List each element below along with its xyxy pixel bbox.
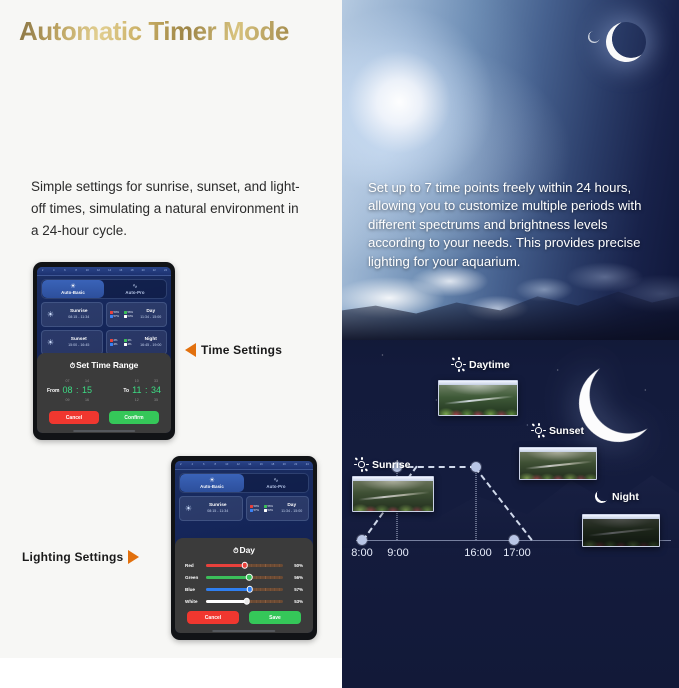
day-lighting-dialog: ⏱Day Red 50% Green	[175, 538, 313, 633]
mode-tab-group: ☀ Auto-Basic ∿ Auto-Pro	[41, 279, 167, 299]
channel-chip: 2%	[110, 339, 122, 342]
slider-label: Blue	[185, 587, 202, 592]
period-range: 15:00 - 16:45	[59, 343, 99, 347]
tab-auto-basic[interactable]: ☀ Auto-Basic	[42, 280, 104, 298]
channel-chip: 3%	[124, 339, 136, 342]
channel-chip: 4%	[124, 343, 136, 346]
dialog-button-row: Cancel Confirm	[45, 411, 163, 424]
aquarium-thumb-night	[582, 514, 660, 547]
ruler-tick: 8	[71, 270, 82, 273]
period-range: 16:45 - 19:00	[139, 343, 164, 347]
sunrise-icon: ☀	[45, 310, 56, 319]
from-picker[interactable]: From 07 08 09 : 14 15	[47, 377, 92, 404]
ruler-tick: 10	[221, 464, 233, 467]
annotation-label: Sunset	[549, 425, 584, 437]
sun-icon	[452, 358, 465, 371]
from-hour-value: 08	[63, 385, 73, 396]
ruler-tick: 22	[290, 464, 302, 467]
slider-track[interactable]	[206, 576, 283, 578]
channel-chip: 57%	[110, 315, 122, 318]
dialog-button-row: Cancel Save	[183, 611, 305, 624]
tab-auto-pro-label: Auto-Pro	[125, 290, 144, 295]
slider-knob[interactable]	[247, 586, 254, 593]
from-minute-wheel[interactable]: 14 15 16	[82, 377, 92, 404]
channel-chip-group: 50% 56% 57% 53%	[250, 505, 276, 512]
from-hour-wheel[interactable]: 07 08 09	[63, 377, 73, 404]
channel-chip-group: 2% 3% 4% 4%	[110, 339, 136, 346]
slider-fill	[206, 600, 247, 602]
home-indicator	[73, 430, 135, 432]
channel-chip: 56%	[124, 311, 136, 314]
cancel-button[interactable]: Cancel	[49, 411, 99, 424]
chart-node-16[interactable]	[471, 462, 481, 472]
confirm-button[interactable]: Confirm	[109, 411, 159, 424]
from-label: From	[47, 388, 60, 394]
home-indicator	[212, 630, 275, 632]
page-root: Automatic Timer Mode Simple settings for…	[0, 0, 679, 688]
chart-xtick-label: 17:00	[503, 547, 531, 559]
channel-chip: 56%	[264, 505, 276, 508]
dialog-title: ⏱Day	[183, 545, 305, 556]
arrow-left-icon	[185, 343, 196, 357]
ruler-tick: 14	[104, 270, 115, 273]
tank-glass	[353, 481, 433, 512]
period-card-day[interactable]: 50% 56% 57% 53% Day 11:34 - 15:00	[106, 302, 168, 327]
ruler-tick: 10	[82, 270, 93, 273]
ruler-tick: 6	[198, 464, 210, 467]
ruler-tick: 20	[279, 464, 291, 467]
channel-chip-group: 50% 56% 57% 53%	[110, 311, 136, 318]
sun-icon	[355, 458, 368, 471]
channel-chip: 53%	[124, 315, 136, 318]
slider-fill	[206, 576, 249, 578]
tab-auto-basic[interactable]: ☀ Auto-Basic	[180, 474, 244, 492]
slider-track[interactable]	[206, 588, 283, 590]
slider-track[interactable]	[206, 564, 283, 566]
ruler-tick: 4	[187, 464, 199, 467]
clock-icon: ⏱	[70, 363, 75, 370]
chart-dropline-sunset	[476, 468, 477, 540]
page-title: Automatic Timer Mode	[19, 16, 289, 47]
ruler-tick: 18	[126, 270, 137, 273]
ruler-tick: 24	[160, 270, 171, 273]
sunset-icon: ☀	[45, 338, 56, 347]
clock-icon: ⏱	[233, 548, 238, 555]
to-hour-value: 11	[132, 385, 141, 396]
time-picker-row: From 07 08 09 : 14 15	[45, 377, 163, 404]
to-label: To	[123, 388, 129, 394]
callout-lighting-settings-label: Lighting Settings	[22, 550, 123, 564]
period-card-night[interactable]: 2% 3% 4% 4% Night 16:45 - 19:00	[106, 330, 168, 355]
cancel-button[interactable]: Cancel	[187, 611, 239, 624]
slider-value: 57%	[287, 587, 303, 592]
ruler-tick: 12	[93, 270, 104, 273]
chart-node-17[interactable]	[509, 535, 519, 545]
slider-fill	[206, 564, 245, 566]
period-card-day[interactable]: 50% 56% 57% 53% Day 11:34 - 15:00	[246, 496, 310, 521]
tablet-time-screen: 2 4 6 8 10 12 14 16 18 20 22 24 ☀ Au	[37, 267, 171, 433]
sun-icon	[532, 424, 545, 437]
lighting-schedule-chart: 8:00 9:00 16:00 17:00 Sunrise Daytime	[342, 352, 679, 582]
tab-auto-pro[interactable]: ∿ Auto-Pro	[244, 474, 308, 492]
ruler-tick: 16	[256, 464, 268, 467]
channel-chip: 57%	[250, 509, 262, 512]
callout-lighting-settings: Lighting Settings	[22, 550, 139, 564]
set-time-range-dialog: ⏱Set Time Range From 07 08 09 :	[37, 353, 171, 433]
slider-value: 56%	[287, 575, 303, 580]
tab-auto-pro-label: Auto-Pro	[266, 484, 285, 489]
period-card-sunset[interactable]: ☀ Sunset 15:00 - 16:45	[41, 330, 103, 355]
wave-icon: ∿	[132, 283, 137, 290]
ruler-tick: 4	[48, 270, 59, 273]
slider-label: Green	[185, 575, 202, 580]
wave-icon: ∿	[273, 477, 278, 484]
period-range: 08:15 - 11:34	[197, 509, 239, 513]
ruler-tick: 2	[175, 464, 187, 467]
slider-label: White	[185, 599, 202, 604]
chart-xtick-label: 16:00	[464, 547, 492, 559]
chart-annotation-night: Night	[595, 490, 639, 503]
timeline-ruler[interactable]: 2 4 6 8 10 12 14 16 18 20 22 24	[37, 267, 171, 276]
annotation-label: Sunrise	[372, 459, 411, 471]
ruler-tick: 16	[115, 270, 126, 273]
to-picker[interactable]: To 10 11 12 : 33 34	[123, 377, 161, 404]
to-colon: :	[145, 385, 148, 396]
ruler-tick: 20	[138, 270, 149, 273]
slider-knob[interactable]	[246, 574, 253, 581]
ruler-tick: 6	[59, 270, 70, 273]
channel-chip: 4%	[110, 343, 122, 346]
ruler-tick: 18	[267, 464, 279, 467]
save-button[interactable]: Save	[249, 611, 301, 624]
slider-value: 50%	[287, 563, 303, 568]
annotation-label: Daytime	[469, 359, 510, 371]
aquarium-thumb-daytime	[438, 380, 518, 416]
tank-glass	[439, 385, 517, 416]
sun-icon: ☀	[70, 283, 76, 290]
channel-chip: 50%	[250, 505, 262, 508]
channel-chip: 50%	[110, 311, 122, 314]
slider-fill	[206, 588, 250, 590]
aquarium-thumb-sunset	[519, 447, 597, 480]
slider-green[interactable]: Green 56%	[185, 575, 303, 580]
tab-auto-pro[interactable]: ∿ Auto-Pro	[104, 280, 166, 298]
tablet-time-settings: 2 4 6 8 10 12 14 16 18 20 22 24 ☀ Au	[33, 262, 175, 440]
period-range: 11:34 - 15:00	[279, 509, 306, 513]
period-range: 08:15 - 11:34	[59, 315, 99, 319]
slider-red[interactable]: Red 50%	[185, 563, 303, 568]
ruler-tick: 14	[244, 464, 256, 467]
aquarium-thumb-sunrise	[352, 476, 434, 512]
tablet-lighting-settings: 2 4 6 8 10 12 14 16 18 20 22 24 ☀ Au	[171, 456, 317, 640]
sunrise-icon: ☀	[183, 504, 194, 513]
slider-white[interactable]: White 53%	[185, 599, 303, 604]
moon-icon	[593, 488, 609, 504]
period-card-grid: ☀ Sunrise 08:15 - 11:34 50% 56% 57% 53%	[179, 496, 309, 521]
slider-label: Red	[185, 563, 202, 568]
right-panel: Set up to 7 time points freely within 24…	[342, 0, 679, 688]
period-card-sunrise[interactable]: ☀ Sunrise 08:15 - 11:34	[179, 496, 243, 521]
ruler-tick: 24	[302, 464, 314, 467]
to-minute-wheel[interactable]: 33 34 35	[151, 377, 161, 404]
chart-node-8[interactable]	[357, 535, 367, 545]
ruler-tick: 8	[210, 464, 222, 467]
from-colon: :	[76, 385, 79, 396]
slider-blue[interactable]: Blue 57%	[185, 587, 303, 592]
period-card-grid: ☀ Sunrise 08:15 - 11:34 50% 56% 57% 53%	[41, 302, 167, 355]
dialog-title: ⏱Set Time Range	[45, 360, 163, 371]
slider-track[interactable]	[206, 600, 283, 602]
tank-glass	[583, 519, 659, 547]
ruler-tick: 22	[149, 270, 160, 273]
sun-icon: ☀	[209, 477, 215, 484]
chart-xtick-label: 9:00	[387, 547, 408, 559]
tablet-lighting-screen: 2 4 6 8 10 12 14 16 18 20 22 24 ☀ Au	[175, 461, 313, 633]
to-minute-value: 34	[151, 385, 161, 396]
timeline-ruler[interactable]: 2 4 6 8 10 12 14 16 18 20 22 24	[175, 461, 313, 470]
ruler-tick: 2	[37, 270, 48, 273]
period-range: 11:34 - 15:00	[139, 315, 164, 319]
to-hour-wheel[interactable]: 10 11 12	[132, 377, 141, 404]
callout-time-settings-label: Time Settings	[201, 343, 282, 357]
right-content: Set up to 7 time points freely within 24…	[342, 0, 679, 688]
left-panel: Automatic Timer Mode Simple settings for…	[0, 0, 342, 658]
chart-annotation-sunrise: Sunrise	[355, 458, 411, 471]
annotation-label: Night	[612, 491, 639, 503]
right-paragraph: Set up to 7 time points freely within 24…	[368, 179, 660, 271]
chart-annotation-sunset: Sunset	[532, 424, 584, 437]
channel-chip: 53%	[264, 509, 276, 512]
period-card-sunrise[interactable]: ☀ Sunrise 08:15 - 11:34	[41, 302, 103, 327]
mode-tab-group: ☀ Auto-Basic ∿ Auto-Pro	[179, 473, 309, 493]
slider-knob[interactable]	[244, 598, 251, 605]
chart-xtick-label: 8:00	[351, 547, 372, 559]
slider-knob[interactable]	[241, 562, 248, 569]
ruler-tick: 12	[233, 464, 245, 467]
slider-value: 53%	[287, 599, 303, 604]
chart-annotation-daytime: Daytime	[452, 358, 510, 371]
callout-time-settings: Time Settings	[185, 343, 282, 357]
tank-glass	[520, 452, 596, 480]
intro-paragraph: Simple settings for sunrise, sunset, and…	[31, 176, 303, 242]
tab-auto-basic-label: Auto-Basic	[61, 290, 85, 295]
tab-auto-basic-label: Auto-Basic	[200, 484, 224, 489]
from-minute-value: 15	[82, 385, 92, 396]
arrow-right-icon	[128, 550, 139, 564]
